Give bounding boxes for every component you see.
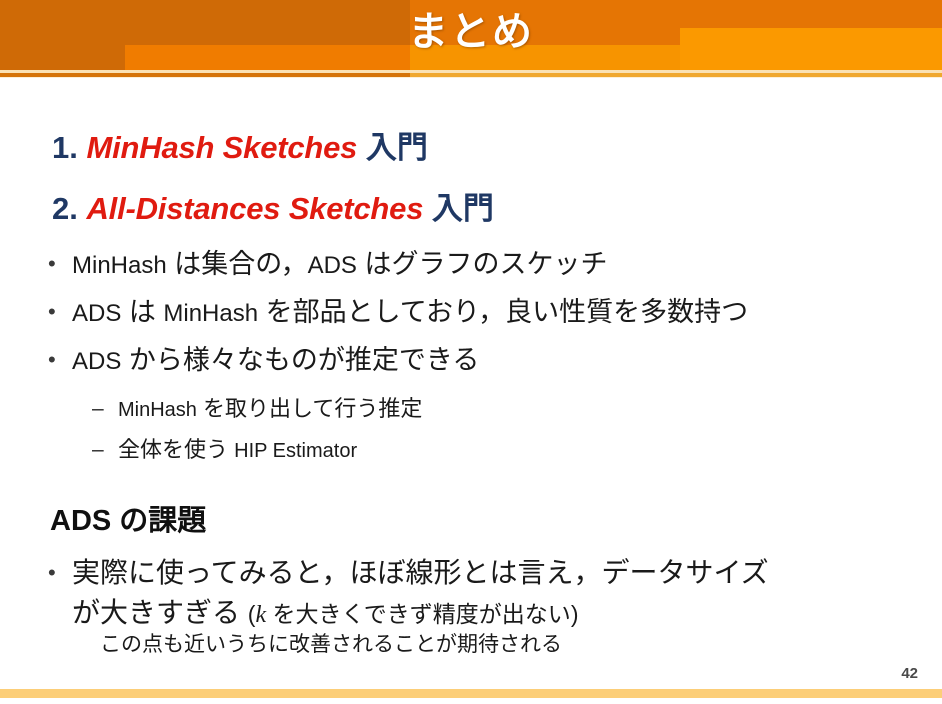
sub-2-seg-0: 全体を使う	[118, 437, 234, 462]
sub-bullet-item-2: – 全体を使う HIP Estimator	[92, 435, 357, 466]
sub-1-seg-0: MinHash	[118, 399, 197, 421]
slide-title: まとめ	[0, 4, 942, 60]
sub-2-seg-1: HIP Estimator	[234, 440, 357, 462]
slide-body: 1. MinHash Sketches 入門 2. All-Distances …	[0, 84, 942, 680]
bullet-text-1: MinHash は集合の，ADS はグラフのスケッチ	[72, 247, 607, 283]
heading-term-en-1: MinHash Sketches	[86, 130, 357, 165]
bullet-dot-icon: •	[48, 343, 72, 377]
bullet-text-2: ADS は MinHash を部品としており，良い性質を多数持つ	[72, 295, 748, 331]
bullet-3-seg-1: から様々なものが推定できる	[121, 345, 479, 375]
bullet-dot-icon: •	[48, 247, 72, 281]
sub-bullet-text-1: MinHash を取り出して行う推定	[118, 394, 422, 425]
bullet-text-3: ADS から様々なものが推定できる	[72, 343, 479, 379]
header-rule-bottom	[0, 77, 942, 78]
bullet-2-seg-2: MinHash	[163, 300, 258, 327]
variable-k: k	[255, 602, 266, 628]
dash-marker-icon: –	[92, 435, 118, 465]
numbered-heading-1: 1. MinHash Sketches 入門	[52, 128, 428, 168]
sub-bullet-text-2: 全体を使う HIP Estimator	[118, 435, 357, 466]
heading-term-jp-2: 入門	[432, 191, 494, 226]
slide-header: まとめ	[0, 0, 942, 78]
heading-term-jp-1: 入門	[366, 130, 428, 165]
sub-bullet-item-1: – MinHash を取り出して行う推定	[92, 394, 422, 425]
section-heading-en: ADS	[50, 505, 111, 537]
final-bullet-line1: 実際に使ってみると，ほぼ線形とは言え，データサイズ	[72, 557, 769, 588]
dash-marker-icon: –	[92, 394, 118, 424]
final-bullet-paren: (k を大きくできず精度が出ない)	[248, 601, 579, 627]
final-bullet-line2-prefix: が大きすぎる	[72, 597, 248, 628]
bullet-item-1: • MinHash は集合の，ADS はグラフのスケッチ	[48, 247, 607, 283]
bullet-2-seg-3: を部品としており，良い性質を多数持つ	[258, 297, 748, 327]
closing-note: この点も近いうちに改善されることが期待される	[100, 631, 562, 659]
slide-root: まとめ 1. MinHash Sketches 入門 2. All-Distan…	[0, 0, 942, 704]
paren-close: )	[571, 601, 579, 627]
page-number: 42	[901, 665, 918, 682]
heading-number-2: 2.	[52, 191, 78, 226]
bullet-1-seg-0: MinHash	[72, 252, 167, 279]
bullet-dot-icon: •	[48, 553, 72, 593]
final-bullet-text: 実際に使ってみると，ほぼ線形とは言え，データサイズ が大きすぎる (k を大きく…	[72, 553, 912, 635]
heading-number-1: 1.	[52, 130, 78, 165]
final-bullet-item: • 実際に使ってみると，ほぼ線形とは言え，データサイズ が大きすぎる (k を大…	[48, 553, 912, 635]
section-heading-jp: の課題	[111, 505, 206, 537]
bullet-1-seg-3: はグラフのスケッチ	[357, 249, 608, 279]
bullet-item-3: • ADS から様々なものが推定できる	[48, 343, 479, 379]
bullet-1-seg-2: ADS	[308, 252, 357, 279]
section-heading: ADS の課題	[50, 502, 206, 540]
paren-body: を大きくできず精度が出ない	[266, 601, 571, 627]
bullet-2-seg-1: は	[121, 297, 163, 327]
heading-term-en-2: All-Distances Sketches	[86, 191, 423, 226]
bullet-dot-icon: •	[48, 295, 72, 329]
bullet-3-seg-0: ADS	[72, 348, 121, 375]
footer-bar	[0, 689, 942, 698]
bullet-1-seg-1: は集合の，	[167, 249, 308, 279]
bullet-item-2: • ADS は MinHash を部品としており，良い性質を多数持つ	[48, 295, 748, 331]
bullet-2-seg-0: ADS	[72, 300, 121, 327]
numbered-heading-2: 2. All-Distances Sketches 入門	[52, 189, 494, 229]
sub-1-seg-1: を取り出して行う推定	[197, 396, 422, 421]
